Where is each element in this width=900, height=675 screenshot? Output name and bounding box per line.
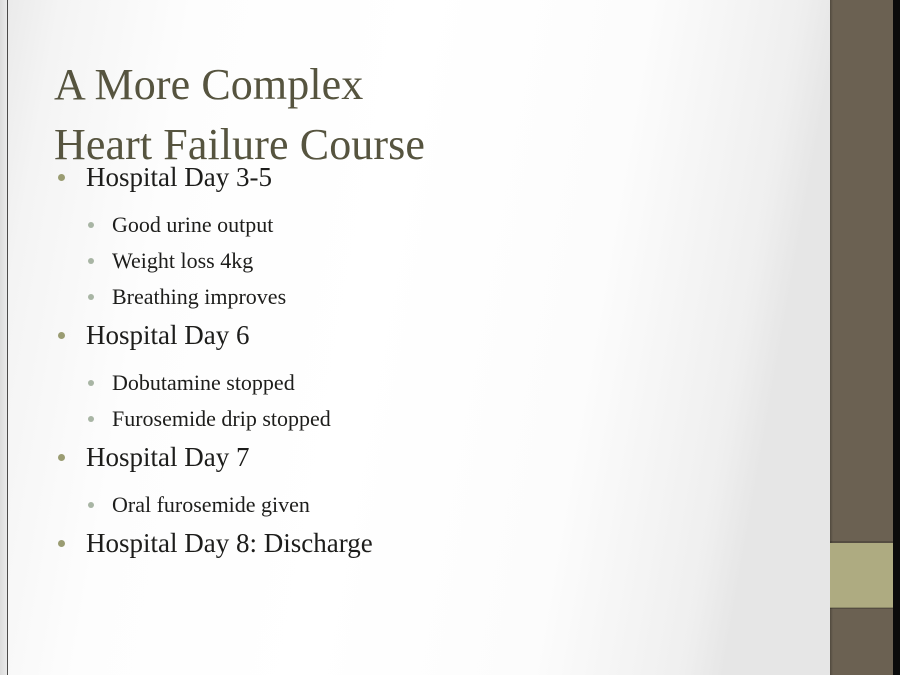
bullet-label: Hospital Day 3-5	[86, 160, 272, 194]
bullet-dot-icon	[88, 416, 94, 422]
bullet-label: Hospital Day 6	[86, 318, 249, 352]
side-band-accent-block	[830, 543, 893, 608]
slide-bullet-list: Hospital Day 3-5 Good urine output Weigh…	[58, 160, 778, 576]
bullet-dot-icon	[88, 222, 94, 228]
slide-left-gutter	[0, 0, 7, 675]
bullet-label: Furosemide drip stopped	[112, 404, 331, 434]
bullet-label: Hospital Day 7	[86, 440, 249, 474]
outer-frame-right	[893, 0, 900, 675]
presentation-slide: A More Complex Heart Failure Course Hosp…	[0, 0, 900, 675]
bullet-dot-icon	[88, 502, 94, 508]
slide-title-line-1: A More Complex	[54, 55, 754, 115]
bullet-dot-icon	[58, 454, 65, 461]
bullet-dot-icon	[58, 540, 65, 547]
bullet-item-furosemide-drip-stopped: Furosemide drip stopped	[58, 404, 778, 440]
slide-left-border	[7, 0, 8, 675]
bullet-item-dobutamine-stopped: Dobutamine stopped	[58, 368, 778, 404]
bullet-dot-icon	[58, 332, 65, 339]
bullet-label: Hospital Day 8: Discharge	[86, 526, 373, 560]
bullet-item-hospital-day-3-5: Hospital Day 3-5	[58, 160, 778, 210]
bullet-item-hospital-day-7: Hospital Day 7	[58, 440, 778, 490]
bullet-item-breathing-improves: Breathing improves	[58, 282, 778, 318]
bullet-item-oral-furosemide-given: Oral furosemide given	[58, 490, 778, 526]
bullet-dot-icon	[88, 294, 94, 300]
bullet-item-hospital-day-6: Hospital Day 6	[58, 318, 778, 368]
bullet-label: Dobutamine stopped	[112, 368, 295, 398]
bullet-label: Weight loss 4kg	[112, 246, 253, 276]
bullet-item-weight-loss: Weight loss 4kg	[58, 246, 778, 282]
bullet-dot-icon	[58, 174, 65, 181]
slide-title: A More Complex Heart Failure Course	[54, 55, 754, 175]
bullet-label: Good urine output	[112, 210, 273, 240]
side-band-divider-bottom	[830, 607, 893, 609]
bullet-item-hospital-day-8-discharge: Hospital Day 8: Discharge	[58, 526, 778, 576]
bullet-item-good-urine-output: Good urine output	[58, 210, 778, 246]
bullet-label: Breathing improves	[112, 282, 286, 312]
slide-decorative-side-band	[830, 0, 893, 675]
bullet-label: Oral furosemide given	[112, 490, 310, 520]
bullet-dot-icon	[88, 380, 94, 386]
bullet-dot-icon	[88, 258, 94, 264]
